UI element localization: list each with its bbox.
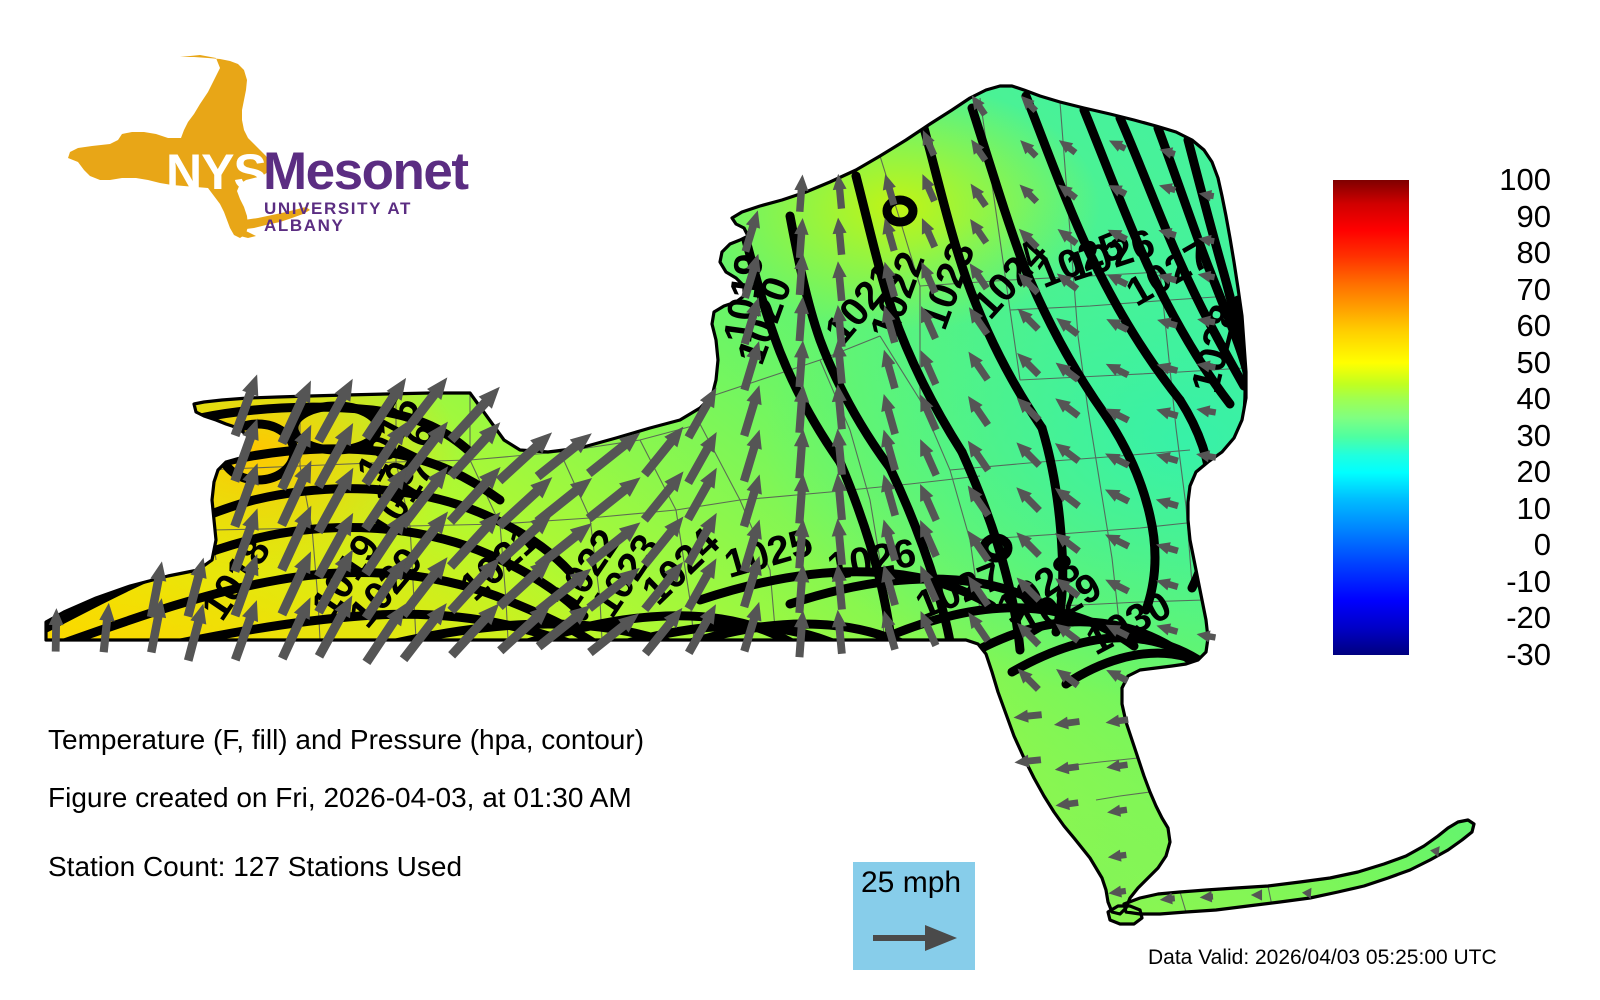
wind-legend-label: 25 mph <box>861 868 961 898</box>
colorbar-tick-30: 30 <box>1421 420 1551 451</box>
colorbar-tick-50: 50 <box>1421 347 1551 378</box>
colorbar-tick-60: 60 <box>1421 310 1551 341</box>
wind-reference-legend: 25 mph <box>853 862 975 970</box>
colorbar-tick-neg10: -10 <box>1421 566 1551 597</box>
figure-title: Temperature (F, fill) and Pressure (hpa,… <box>48 726 644 754</box>
colorbar-tick-10: 10 <box>1421 493 1551 524</box>
colorbar-tick-70: 70 <box>1421 274 1551 305</box>
colorbar-tick-0: 0 <box>1421 529 1551 560</box>
colorbar-gradient <box>1333 180 1409 655</box>
colorbar-tick-90: 90 <box>1421 201 1551 232</box>
colorbar-tick-100: 100 <box>1421 164 1551 195</box>
colorbar-tick-neg20: -20 <box>1421 602 1551 633</box>
colorbar-tick-neg30: -30 <box>1421 639 1551 670</box>
data-valid-timestamp: Data Valid: 2026/04/03 05:25:00 UTC <box>1148 947 1497 968</box>
temperature-colorbar: 1009080706050403020100-10-20-30 <box>1333 180 1573 660</box>
figure-created-timestamp: Figure created on Fri, 2026-04-03, at 01… <box>48 784 632 812</box>
station-count-label: Station Count: 127 Stations Used <box>48 853 462 881</box>
colorbar-tick-80: 80 <box>1421 237 1551 268</box>
colorbar-tick-40: 40 <box>1421 383 1551 414</box>
weather-map-figure: NYS Mesonet UNIVERSITY AT ALBANY <box>0 0 1600 1000</box>
wind-arrow-icon <box>871 920 959 956</box>
colorbar-tick-20: 20 <box>1421 456 1551 487</box>
new-york-state-map: 1015101610171018101910201021102210231024… <box>0 0 1560 960</box>
map-canvas: 1015101610171018101910201021102210231024… <box>0 0 1560 960</box>
